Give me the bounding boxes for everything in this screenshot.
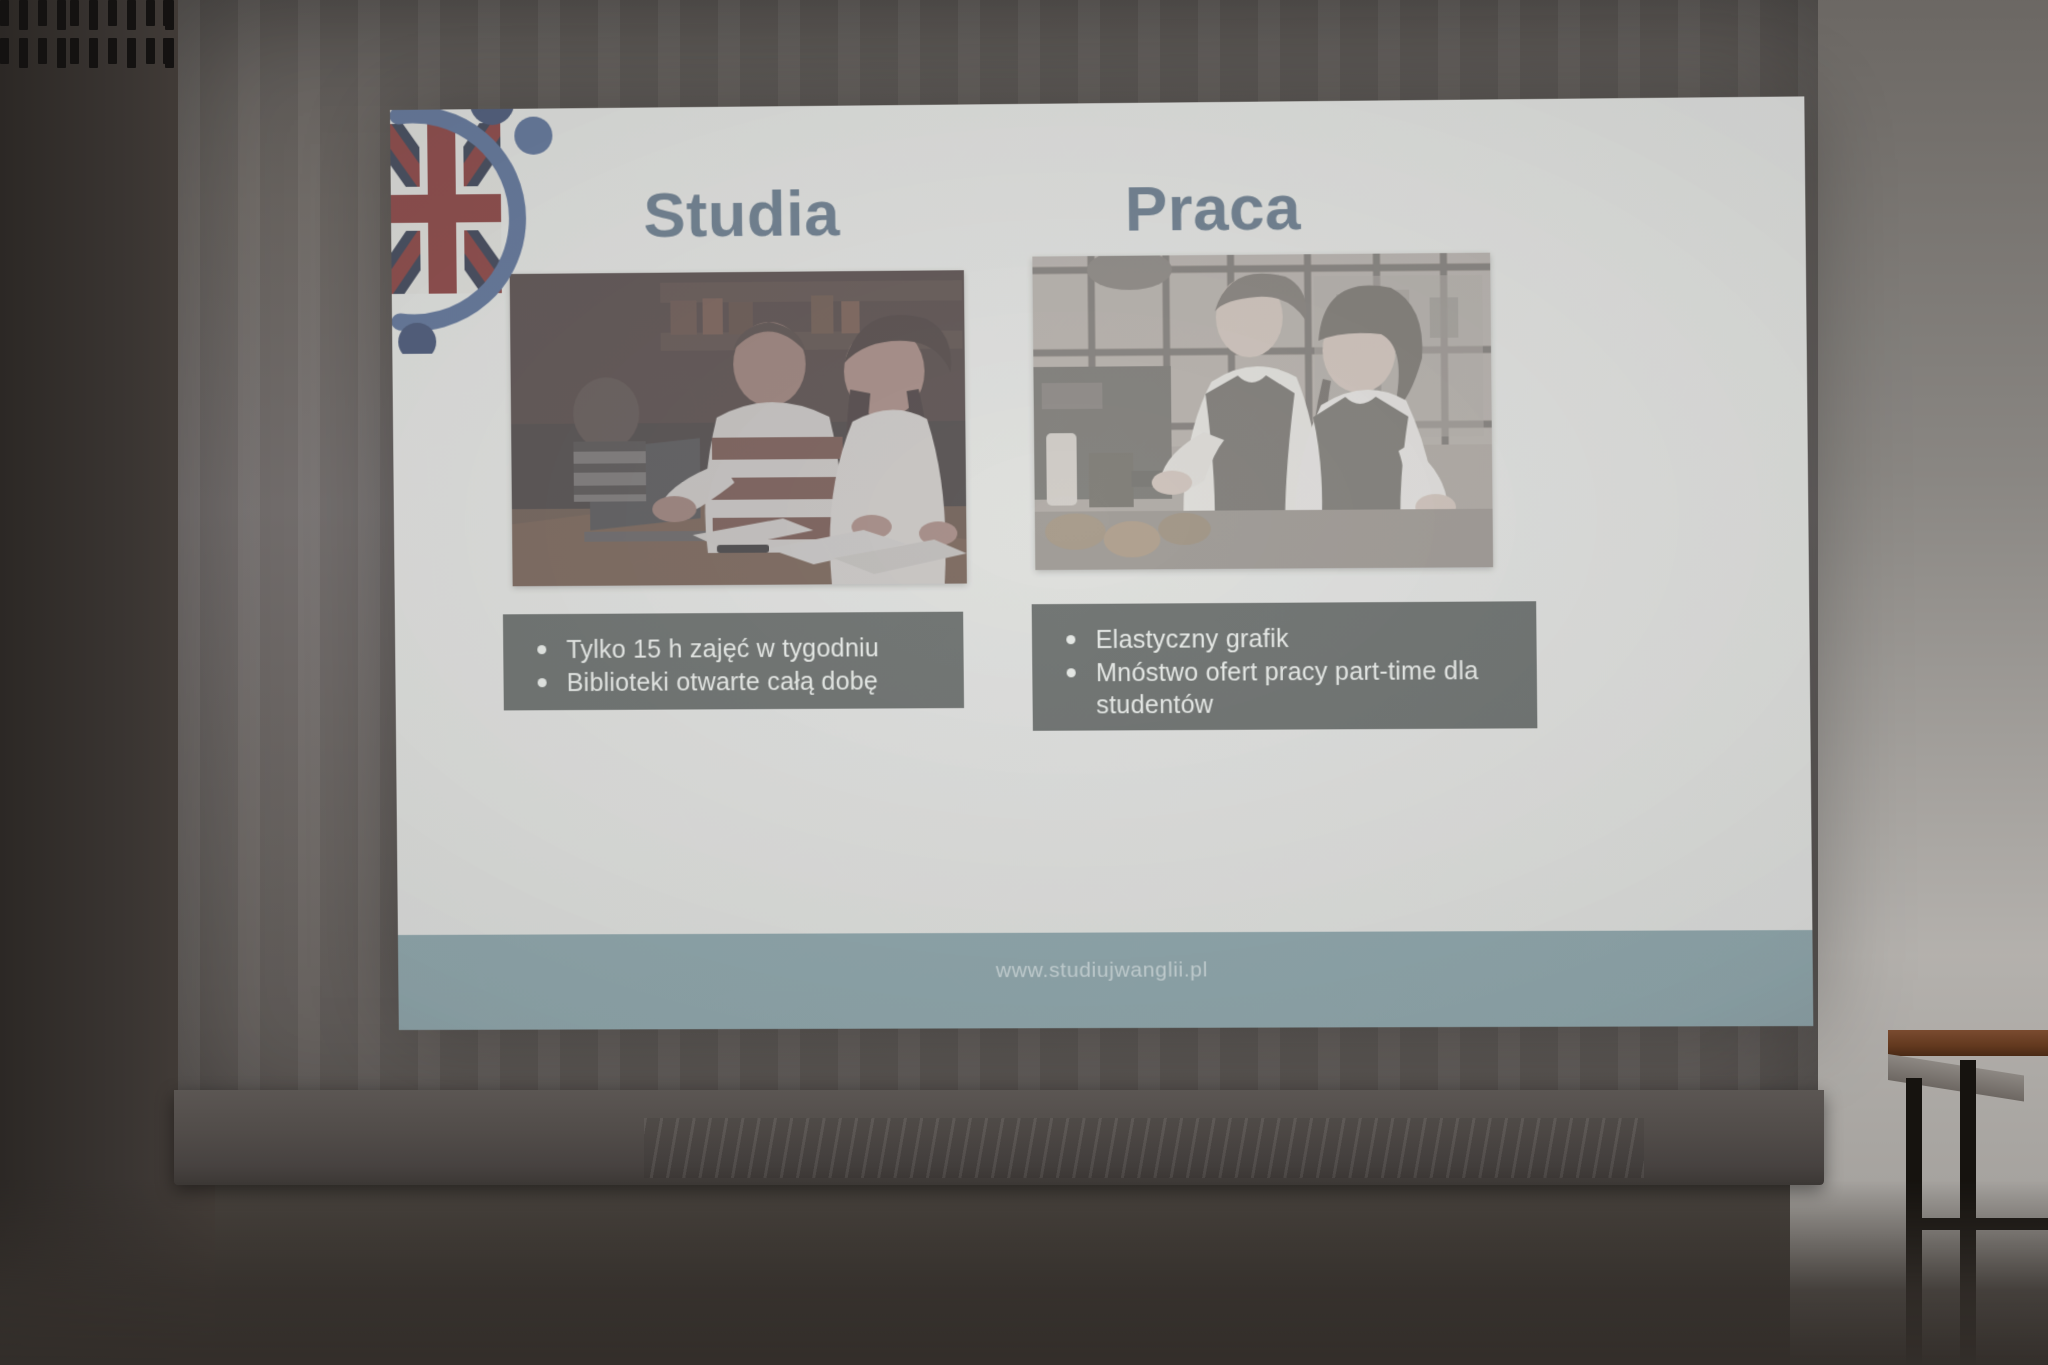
vent-slot: [108, 0, 117, 26]
vent-slot-group: [70, 0, 174, 30]
vent-slot: [38, 38, 47, 64]
vent-slot: [70, 0, 79, 26]
students-studying-library-photo: [510, 270, 967, 586]
logo-dot-upper-right: [514, 116, 552, 154]
vent-slot: [127, 0, 136, 30]
union-jack-circle-logo: [390, 96, 565, 354]
vent-slot: [108, 38, 117, 64]
bullet-dot-icon: [1067, 668, 1076, 677]
bullet-box-praca: Elastyczny grafik Mnóstwo ofert pracy pa…: [1032, 601, 1538, 731]
vent-slot: [19, 0, 28, 30]
room-background: Studia Praca: [0, 0, 2048, 1365]
presentation-slide: Studia Praca: [390, 96, 1813, 1030]
vent-slot: [146, 0, 155, 26]
column-title-praca: Praca: [1124, 172, 1301, 246]
vent-slot: [0, 0, 9, 26]
vent-slot: [57, 0, 66, 30]
bullet-text: Mnóstwo ofert pracy part-time dla studen…: [1096, 654, 1527, 722]
bullet-text: Elastyczny grafik: [1095, 623, 1289, 657]
bullet-text: Tylko 15 h zajęć w tygodniu: [566, 632, 879, 666]
floor-shadow: [0, 1180, 2048, 1365]
table-top: [1888, 1030, 2048, 1056]
list-item: Tylko 15 h zajęć w tygodniu: [537, 632, 953, 667]
vent-slot: [89, 0, 98, 30]
vent-slot: [38, 0, 47, 26]
vent-slot: [0, 38, 9, 64]
vent-slot: [70, 38, 79, 64]
list-item: Biblioteki otwarte całą dobę: [537, 664, 953, 699]
bullet-dot-icon: [1066, 635, 1075, 644]
bullet-dot-icon: [537, 645, 546, 654]
screen-bottom-weight-bar: [174, 1090, 1824, 1185]
vent-slot: [146, 38, 155, 64]
vent-slot: [19, 38, 28, 68]
vent-slot: [57, 38, 66, 68]
slide-footer-band: www.studiujwanglii.pl: [398, 930, 1813, 1030]
vent-slot-group: [0, 38, 66, 68]
vent-slot-group: [0, 0, 66, 30]
projection-screen-assembly: Studia Praca: [168, 0, 1828, 1200]
vent-slot-group: [70, 38, 174, 68]
vent-slot: [89, 38, 98, 68]
vent-slot: [127, 38, 136, 68]
bullet-dot-icon: [538, 678, 547, 687]
bullet-text: Biblioteki otwarte całą dobę: [567, 665, 879, 699]
screen-bar-ripple: [644, 1118, 1644, 1178]
bullet-box-studia: Tylko 15 h zajęć w tygodniu Biblioteki o…: [503, 612, 964, 711]
list-item: Elastyczny grafik: [1066, 621, 1526, 656]
column-title-studia: Studia: [643, 178, 840, 252]
website-url: www.studiujwanglii.pl: [398, 956, 1813, 985]
cafe-workers-photo: [1032, 253, 1493, 570]
list-item: Mnóstwo ofert pracy part-time dla studen…: [1066, 654, 1527, 722]
